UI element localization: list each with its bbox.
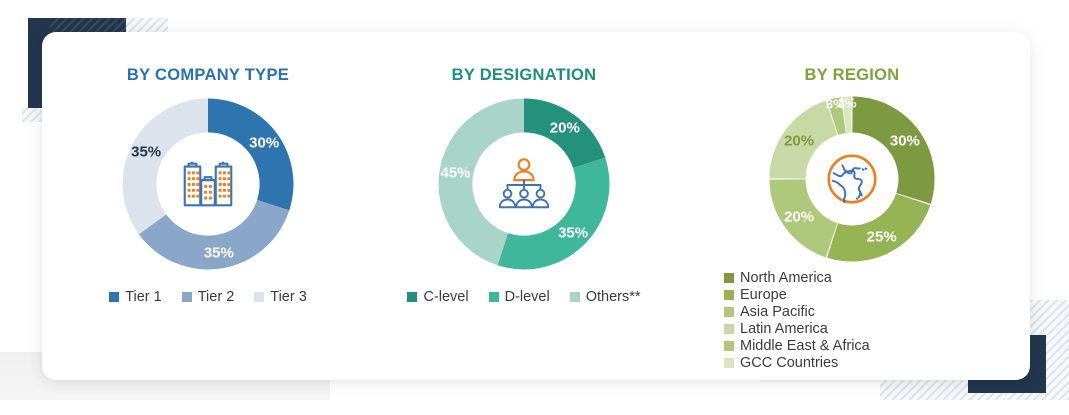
- donut-arcs-region: [769, 96, 934, 261]
- legend-item-region-1[interactable]: Europe: [724, 287, 870, 303]
- donut-slice-region-0[interactable]: [852, 96, 934, 203]
- legend-swatch-icon: [254, 292, 264, 302]
- donut-svg-region: [766, 93, 938, 265]
- legend-label: Asia Pacific: [740, 304, 815, 320]
- legend-label: Europe: [740, 287, 787, 303]
- legend-label: Middle East & Africa: [740, 338, 870, 354]
- donut-chart-designation: 20%35%45%: [435, 95, 613, 273]
- legend-item-designation-1[interactable]: D-level: [489, 289, 550, 305]
- legend-swatch-icon: [570, 292, 580, 302]
- legend-item-region-4[interactable]: Middle East & Africa: [724, 338, 870, 354]
- panel-company-type: BY COMPANY TYPE: [42, 32, 374, 380]
- legend-label: Others**: [586, 289, 641, 305]
- panel-title-company-type: BY COMPANY TYPE: [42, 66, 374, 85]
- panel-title-region: BY REGION: [674, 66, 1030, 85]
- legend-item-region-0[interactable]: North America: [724, 270, 870, 286]
- donut-arcs-designation: [439, 99, 610, 270]
- legend-item-region-5[interactable]: GCC Countries: [724, 355, 870, 371]
- panel-designation: BY DESIGNATION: [374, 32, 674, 380]
- legend-designation: C-levelD-levelOthers**: [374, 289, 674, 305]
- charts-panel-group: BY COMPANY TYPE: [42, 32, 1030, 380]
- donut-chart-company-type: 30%35%35%: [119, 95, 297, 273]
- donut-arcs-company: [123, 99, 294, 270]
- legend-swatch-icon: [407, 292, 417, 302]
- donut-slice-designation-1[interactable]: [498, 158, 610, 270]
- legend-label: C-level: [423, 289, 468, 305]
- legend-label: D-level: [505, 289, 550, 305]
- legend-swatch-icon: [724, 290, 734, 300]
- legend-label: Tier 1: [125, 289, 162, 305]
- panel-title-designation: BY DESIGNATION: [374, 66, 674, 85]
- donut-slice-company-0[interactable]: [208, 99, 293, 211]
- legend-item-company-2[interactable]: Tier 3: [254, 289, 307, 305]
- legend-item-region-3[interactable]: Latin America: [724, 321, 870, 337]
- donut-slice-region-2[interactable]: [769, 179, 837, 257]
- legend-label: Tier 2: [198, 289, 235, 305]
- legend-swatch-icon: [182, 292, 192, 302]
- legend-label: North America: [740, 270, 832, 286]
- donut-svg-designation: [435, 95, 613, 273]
- legend-swatch-icon: [109, 292, 119, 302]
- legend-swatch-icon: [724, 307, 734, 317]
- legend-label: Latin America: [740, 321, 828, 337]
- legend-company-type: Tier 1Tier 2Tier 3: [42, 289, 374, 305]
- legend-item-designation-0[interactable]: C-level: [407, 289, 468, 305]
- legend-region: North AmericaEuropeAsia PacificLatin Ame…: [724, 270, 870, 371]
- donut-chart-region: 30%25%20%20%3%2%: [766, 93, 938, 265]
- donut-slice-region-1[interactable]: [827, 194, 930, 262]
- panel-region: BY REGION: [674, 32, 1030, 380]
- legend-swatch-icon: [724, 358, 734, 368]
- legend-label: Tier 3: [270, 289, 307, 305]
- legend-item-company-1[interactable]: Tier 2: [182, 289, 235, 305]
- legend-item-region-2[interactable]: Asia Pacific: [724, 304, 870, 320]
- legend-swatch-icon: [489, 292, 499, 302]
- legend-label: GCC Countries: [740, 355, 838, 371]
- donut-slice-region-3[interactable]: [769, 101, 837, 179]
- legend-swatch-icon: [724, 341, 734, 351]
- donut-slice-designation-0[interactable]: [524, 99, 605, 168]
- charts-card: BY COMPANY TYPE: [42, 32, 1030, 380]
- donut-svg-company-type: [119, 95, 297, 273]
- legend-swatch-icon: [724, 273, 734, 283]
- donut-slice-company-2[interactable]: [123, 99, 208, 235]
- legend-swatch-icon: [724, 324, 734, 334]
- legend-item-company-0[interactable]: Tier 1: [109, 289, 162, 305]
- legend-item-designation-2[interactable]: Others**: [570, 289, 641, 305]
